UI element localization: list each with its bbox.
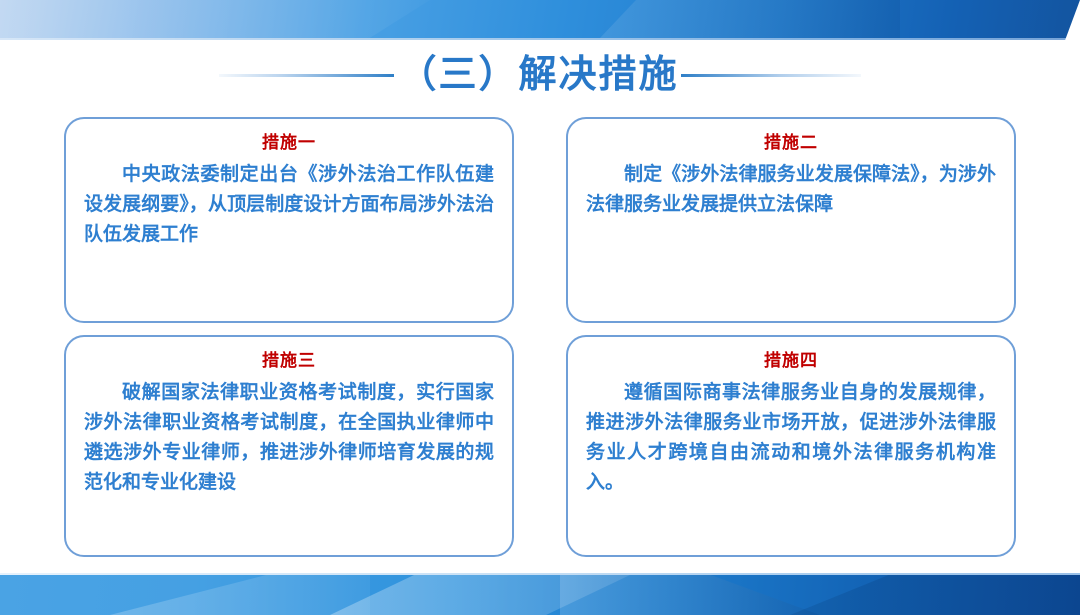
slide-canvas: （三）解决措施 措施一 中央政法委制定出台《涉外法治工作队伍建设发展纲要》，从顶… [0,0,1080,615]
measure-card-3-heading: 措施三 [84,351,494,371]
measure-card-4-heading: 措施四 [586,351,996,371]
title-rule-right [681,74,861,77]
measure-card-4: 措施四 遵循国际商事法律服务业自身的发展规律，推进涉外法律服务业市场开放，促进涉… [566,335,1016,557]
measure-card-2-heading: 措施二 [586,133,996,153]
bottom-band-edge-line [0,573,1080,575]
measure-card-1-body: 中央政法委制定出台《涉外法治工作队伍建设发展纲要》，从顶层制度设计方面布局涉外法… [84,160,494,250]
measure-card-1-heading: 措施一 [84,133,494,153]
measure-card-1: 措施一 中央政法委制定出台《涉外法治工作队伍建设发展纲要》，从顶层制度设计方面布… [64,117,514,323]
measure-card-2-body: 制定《涉外法律服务业发展保障法》，为涉外法律服务业发展提供立法保障 [586,160,996,220]
title-rule-left [219,74,394,77]
measure-card-3: 措施三 破解国家法律职业资格考试制度，实行国家涉外法律职业资格考试制度，在全国执… [64,335,514,557]
top-band-facet-right [600,0,900,38]
measures-grid: 措施一 中央政法委制定出台《涉外法治工作队伍建设发展纲要》，从顶层制度设计方面布… [64,117,1016,557]
bottom-decorative-band [0,573,1080,615]
top-band-facet-left [0,0,430,38]
top-decorative-band [0,0,1080,42]
top-band-edge-line [0,38,1080,40]
page-title: （三）解决措施 [398,56,678,94]
page-title-row: （三）解决措施 [0,48,1080,102]
measure-card-2: 措施二 制定《涉外法律服务业发展保障法》，为涉外法律服务业发展提供立法保障 [566,117,1016,323]
measure-card-4-body: 遵循国际商事法律服务业自身的发展规律，推进涉外法律服务业市场开放，促进涉外法律服… [586,378,996,498]
measure-card-3-body: 破解国家法律职业资格考试制度，实行国家涉外法律职业资格考试制度，在全国执业律师中… [84,378,494,498]
